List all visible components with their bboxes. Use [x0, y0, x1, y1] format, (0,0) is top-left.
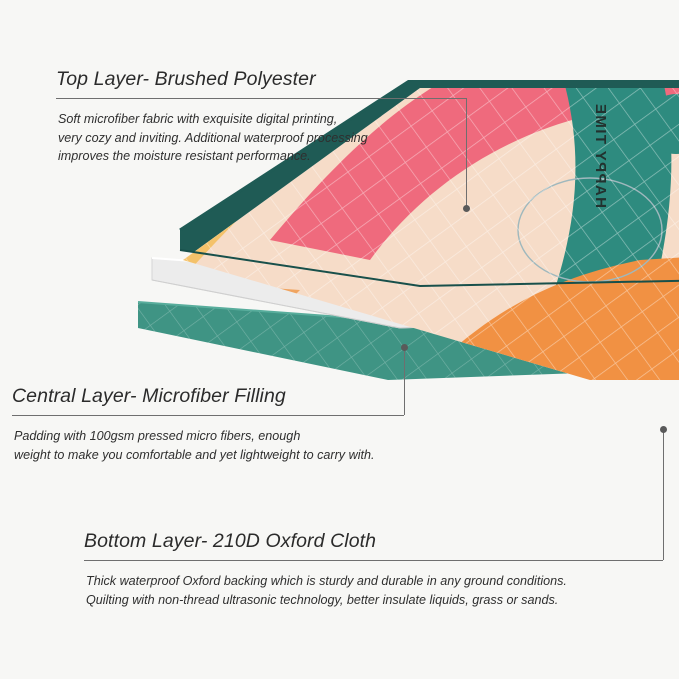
central-layer-heading: Central Layer- Microfiber Filling [12, 385, 286, 408]
top-layer-heading: Top Layer- Brushed Polyester [56, 68, 316, 91]
central-layer-leader-dot [401, 344, 408, 351]
central-layer-body: Padding with 100gsm pressed micro fibers… [14, 427, 474, 464]
central-layer-underline [12, 415, 404, 416]
top-layer-body: Soft microfiber fabric with exquisite di… [58, 110, 458, 166]
product-print-text: HAPPY TIME [592, 103, 609, 208]
bottom-layer-body: Thick waterproof Oxford backing which is… [86, 572, 666, 609]
top-layer-leader-dot [463, 205, 470, 212]
bottom-layer-leader-dot [660, 426, 667, 433]
bottom-layer-leader-line [663, 430, 664, 560]
central-layer-leader-line [404, 348, 405, 415]
top-layer-leader-line [466, 98, 467, 208]
diagram-canvas: HAPPY TIME Top Layer- Brushed Polyester … [0, 0, 679, 679]
top-layer-underline [56, 98, 466, 99]
bottom-layer-underline [84, 560, 663, 561]
bottom-layer-heading: Bottom Layer- 210D Oxford Cloth [84, 530, 376, 553]
